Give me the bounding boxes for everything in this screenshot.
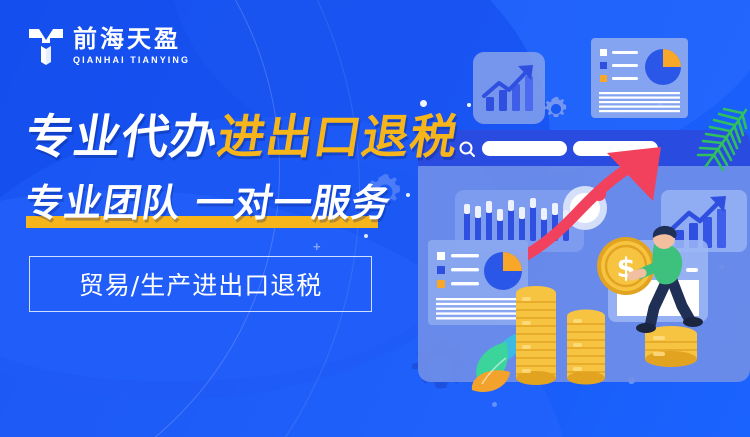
- headline-gold-text: 进出口退税: [214, 110, 463, 165]
- service-scope-text: 贸易/生产进出口退税: [79, 266, 322, 302]
- brand-logo[interactable]: 前海天盈 QIANHAI TIANYING: [28, 27, 190, 68]
- growth-bar-chart-icon: [473, 52, 545, 129]
- palm-leaf-icon: [688, 104, 750, 187]
- decor-dot: [364, 234, 368, 238]
- gold-coin-stack-icon: [514, 283, 558, 392]
- headline-block: 专业代办进出口退税 专业团队 一对一服务: [26, 113, 458, 227]
- trophy-y-mark-icon: [28, 27, 64, 67]
- logo-name-cn: 前海天盈: [73, 27, 190, 52]
- logo-name-en: QIANHAI TIANYING: [73, 54, 190, 68]
- service-scope-box[interactable]: 贸易/生产进出口退税: [29, 256, 372, 312]
- decor-dot: [420, 100, 427, 107]
- headline-line-1: 专业代办进出口退税: [22, 113, 462, 164]
- promo-banner: + + + +: [0, 0, 750, 437]
- decor-plus-icon: +: [313, 240, 321, 253]
- document-pie-chart-icon: [428, 240, 528, 330]
- headline-line-2: 专业团队 一对一服务: [22, 172, 383, 227]
- headline-white-text: 专业代办: [22, 110, 223, 165]
- gear-icon: [541, 94, 571, 124]
- document-pie-chart-icon: [591, 38, 688, 123]
- person-pushing-coin-icon: $: [596, 222, 722, 345]
- decor-dot: [467, 103, 471, 107]
- decor-dot: [492, 402, 497, 407]
